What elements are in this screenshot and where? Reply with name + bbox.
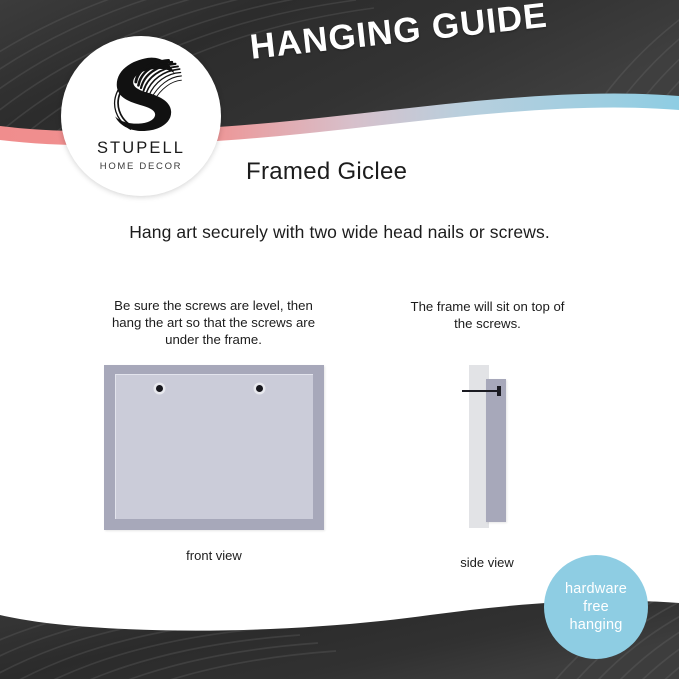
frame-mat-area xyxy=(115,374,313,519)
badge-line-1: hardware xyxy=(565,580,627,598)
badge-line-2: free xyxy=(583,598,609,616)
screw-head-icon xyxy=(497,386,501,396)
intro-instruction: Hang art securely with two wide head nai… xyxy=(0,222,679,243)
logo-badge: STUPELL HOME DECOR xyxy=(61,36,221,196)
logo-name: STUPELL xyxy=(97,139,185,158)
screw-dot-left-icon xyxy=(156,385,163,392)
front-view-diagram: front view xyxy=(104,365,324,530)
side-view-caption: The frame will sit on top of the screws. xyxy=(400,298,575,332)
side-view-label: side view xyxy=(432,555,542,570)
stupell-swoosh-logo-icon xyxy=(98,52,184,136)
front-view-caption: Be sure the screws are level, then hang … xyxy=(107,297,320,348)
screw-dot-right-icon xyxy=(256,385,263,392)
logo-subtitle: HOME DECOR xyxy=(100,161,182,172)
hanging-guide-page: HANGING GUIDE STUPELL HOME DE xyxy=(0,0,679,679)
picture-frame-side xyxy=(486,379,506,522)
product-type-label: Framed Giclee xyxy=(246,158,407,186)
screw-shaft-icon xyxy=(462,390,500,392)
picture-frame-front xyxy=(104,365,324,530)
badge-line-3: hanging xyxy=(569,616,622,634)
hardware-free-hanging-badge: hardware free hanging xyxy=(544,555,648,659)
front-view-label: front view xyxy=(104,548,324,563)
